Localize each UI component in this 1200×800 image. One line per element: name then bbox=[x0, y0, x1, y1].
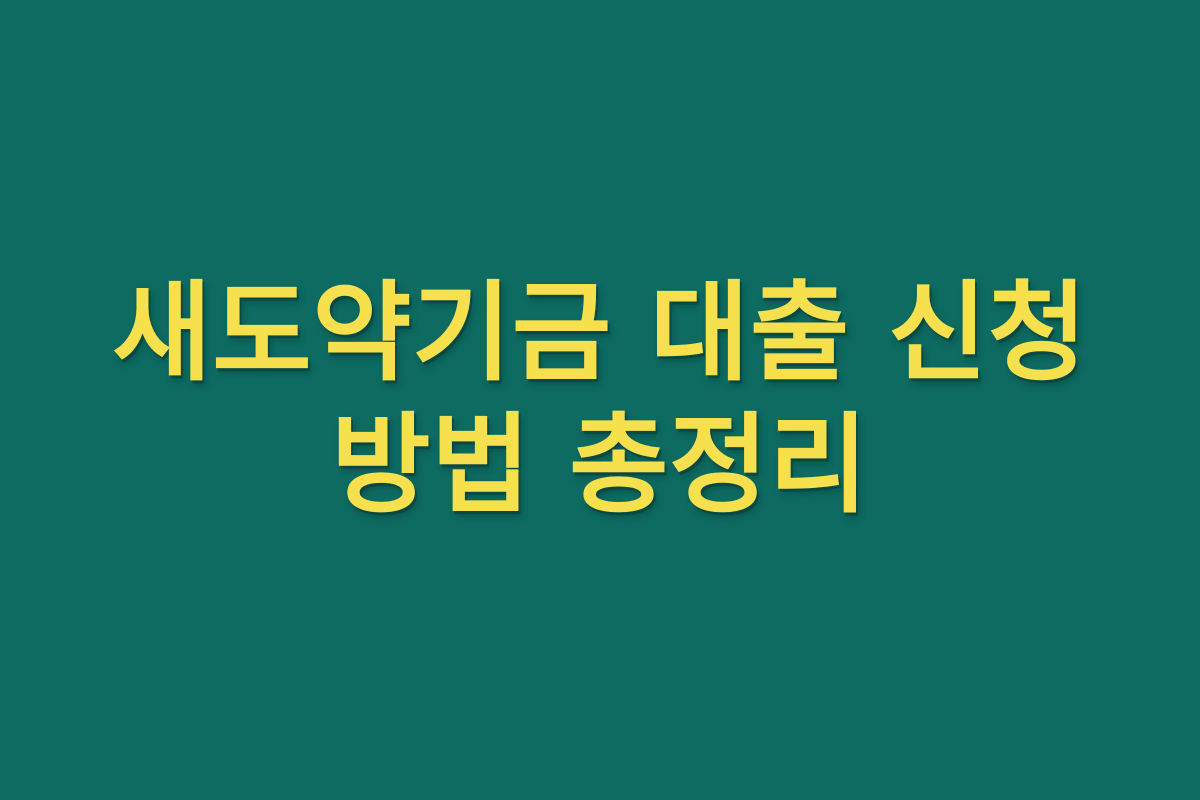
banner-canvas: 새도약기금 대출 신청 방법 총정리 bbox=[0, 0, 1200, 800]
banner-headline: 새도약기금 대출 신청 방법 총정리 bbox=[70, 268, 1130, 532]
headline-block: 새도약기금 대출 신청 방법 총정리 bbox=[60, 268, 1140, 532]
